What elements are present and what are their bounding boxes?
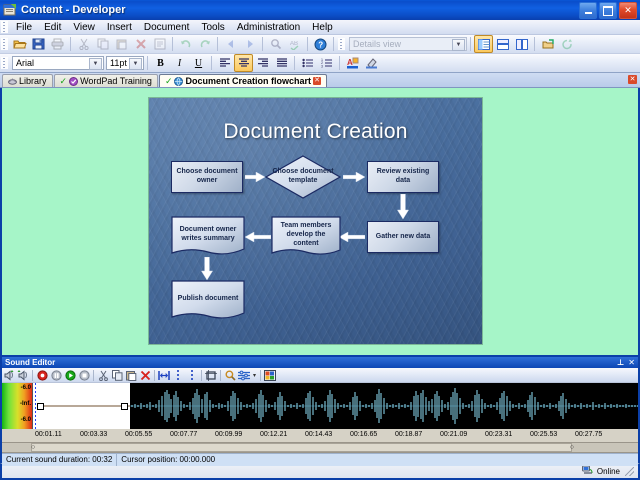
meter-label-top: -6.0	[21, 385, 31, 391]
copy-icon[interactable]	[93, 35, 112, 53]
tab-wordpad-training[interactable]: ✓ WordPad Training	[54, 74, 158, 87]
ruler-tick: 00:16.65	[350, 431, 377, 438]
node-label: Team members develop the content	[271, 222, 341, 248]
play-icon[interactable]	[63, 369, 77, 382]
flowchart-node-choose-document-template[interactable]: Choose document template	[265, 155, 341, 199]
silence-handle-left[interactable]	[37, 403, 44, 410]
ruler-tick: 00:14.43	[305, 431, 332, 438]
tab-label: WordPad Training	[80, 76, 152, 86]
format-toolbar: Arial ▼ 11pt ▼ B I U 123	[0, 54, 640, 73]
close-all-tabs-icon[interactable]: ✕	[628, 75, 637, 84]
playhead-marker[interactable]	[35, 383, 36, 429]
cut-icon[interactable]	[74, 35, 93, 53]
zoom-icon[interactable]	[223, 369, 237, 382]
sound-editor-close-icon[interactable]: ✕	[628, 358, 635, 367]
flowchart-title: Document Creation	[149, 120, 482, 144]
effects-icon[interactable]	[263, 369, 277, 382]
meter-label-bottom: -6.0	[21, 417, 31, 423]
font-color-icon[interactable]: A	[343, 54, 362, 72]
sound-editor-panel: Sound Editor ⊥ ✕	[0, 355, 640, 463]
italic-button[interactable]: I	[170, 54, 189, 72]
flowchart-arrow-3	[397, 194, 409, 220]
resize-grip[interactable]	[625, 467, 634, 476]
title-bar: Content - Developer ✕	[0, 0, 640, 20]
svg-text:3: 3	[321, 64, 323, 68]
menu-gripper[interactable]	[1, 21, 8, 33]
ruler-tick: 00:12.21	[260, 431, 287, 438]
dropdown-arrow-icon[interactable]: ▾	[251, 369, 258, 382]
toolbar-separator	[147, 56, 148, 70]
node-label: Publish document	[174, 295, 243, 304]
flowchart-node-document-owner-writes-summary[interactable]: Document owner writes summary	[171, 216, 245, 258]
tab-close-icon[interactable]: ✕	[313, 77, 321, 85]
ruler-tick: 00:05.55	[125, 431, 152, 438]
close-button[interactable]: ✕	[619, 2, 637, 19]
view-mode-select[interactable]: Details view ▼	[349, 37, 467, 51]
tab-library[interactable]: Library	[2, 74, 53, 87]
menu-file[interactable]: File	[10, 21, 38, 34]
record-icon[interactable]	[35, 369, 49, 382]
stop-icon[interactable]	[77, 369, 91, 382]
flowchart-arrow-5	[245, 232, 271, 242]
sound-duration-status: Current sound duration: 00:32	[2, 454, 117, 466]
globe-icon	[174, 77, 183, 86]
svg-text:AB: AB	[290, 41, 298, 47]
toolbar-separator	[93, 370, 94, 381]
ruler-tick: 00:23.31	[485, 431, 512, 438]
toolbar-separator	[307, 37, 308, 51]
waveform-silence-region[interactable]	[33, 383, 130, 429]
sound-editor-controls: ⊥ ✕	[617, 358, 635, 367]
scroll-marker-left[interactable]: ○	[31, 443, 35, 452]
cursor-position-status: Cursor position: 00:00.000	[117, 454, 638, 466]
align-justify-icon[interactable]	[272, 54, 291, 72]
work-area: Document Creation Choose document owner	[0, 88, 640, 355]
font-family-select[interactable]: Arial ▼	[12, 56, 104, 70]
toolbar-separator	[470, 37, 471, 51]
flowchart-arrow-6	[201, 257, 213, 281]
maximize-button[interactable]	[599, 2, 617, 19]
spellcheck-icon[interactable]: AB	[285, 35, 304, 53]
ruler-tick: 00:25.53	[530, 431, 557, 438]
svg-text:A: A	[347, 58, 353, 67]
menu-help[interactable]: Help	[306, 21, 339, 34]
forward-icon[interactable]	[240, 35, 259, 53]
font-family-value: Arial	[16, 58, 34, 68]
find-icon[interactable]	[266, 35, 285, 53]
flowchart-node-gather-new-data[interactable]: Gather new data	[367, 221, 439, 253]
meter-label-middle: -Inf.	[20, 401, 31, 407]
ruler-tick: 00:27.75	[575, 431, 602, 438]
back-icon[interactable]	[221, 35, 240, 53]
menu-insert[interactable]: Insert	[101, 21, 138, 34]
library-icon	[8, 77, 17, 86]
help-icon[interactable]: ?	[311, 35, 330, 53]
print-icon[interactable]	[48, 35, 67, 53]
save-icon[interactable]	[29, 35, 48, 53]
toolbar-separator	[220, 370, 221, 381]
scrollbar-thumb[interactable]	[31, 443, 572, 452]
svg-text:?: ?	[318, 40, 323, 49]
font-size-value: 11pt	[110, 58, 127, 68]
flowchart-node-publish-document[interactable]: Publish document	[171, 280, 245, 322]
node-label: Document owner writes summary	[171, 226, 245, 244]
ruler-tick: 00:01.11	[35, 431, 62, 438]
split-view-icon[interactable]	[512, 35, 531, 53]
network-icon	[582, 465, 594, 478]
node-label: Choose document template	[267, 168, 339, 186]
undo-icon[interactable]	[176, 35, 195, 53]
bold-button[interactable]: B	[151, 54, 170, 72]
document-tab-strip: Library ✓ WordPad Training ✓ Document Cr…	[0, 73, 640, 88]
menu-bar: File Edit View Insert Document Tools Adm…	[0, 20, 640, 35]
ruler-tick: 00:03.33	[80, 431, 107, 438]
refresh-icon[interactable]	[557, 35, 576, 53]
insert-sound-icon[interactable]	[2, 369, 16, 382]
underline-button[interactable]: U	[189, 54, 208, 72]
application-window: Content - Developer ✕ File Edit View Ins…	[0, 0, 640, 480]
silence-baseline	[37, 405, 130, 407]
flowchart-arrow-1	[245, 172, 265, 182]
flowchart-node-team-members-develop-content[interactable]: Team members develop the content	[271, 216, 341, 258]
toolbar-separator	[262, 37, 263, 51]
toolbar-separator	[154, 370, 155, 381]
node-label: Choose document owner	[174, 168, 240, 186]
numbered-list-icon[interactable]: 123	[317, 54, 336, 72]
toolbar-separator	[534, 37, 535, 51]
tab-label: Library	[19, 76, 47, 86]
scroll-marker-right[interactable]: ○	[570, 443, 574, 452]
sound-editor-title: Sound Editor	[5, 358, 55, 367]
toolbar-separator	[32, 370, 33, 381]
view-mode-value: Details view	[353, 39, 401, 49]
format-gripper[interactable]	[1, 57, 8, 69]
toolbar-separator	[294, 56, 295, 70]
align-right-icon[interactable]	[253, 54, 272, 72]
append-sound-icon[interactable]	[16, 369, 30, 382]
toolbar-separator	[217, 37, 218, 51]
delete-icon[interactable]	[131, 35, 150, 53]
marker-out-icon[interactable]	[185, 369, 199, 382]
toolbar-gripper[interactable]	[1, 38, 8, 50]
marker-in-icon[interactable]	[171, 369, 185, 382]
flowchart-arrow-2	[343, 172, 365, 182]
ruler-tick: 00:09.99	[215, 431, 242, 438]
properties-icon[interactable]	[150, 35, 169, 53]
toolbar-separator	[211, 56, 212, 70]
node-label: Review existing data	[370, 168, 436, 186]
font-size-select[interactable]: 11pt ▼	[106, 56, 144, 70]
toolbar-separator	[260, 370, 261, 381]
copy-icon[interactable]	[110, 369, 124, 382]
chevron-down-icon[interactable]: ▼	[129, 58, 142, 70]
menu-administration[interactable]: Administration	[231, 21, 306, 34]
app-icon	[3, 3, 17, 17]
pin-icon[interactable]: ⊥	[617, 358, 624, 367]
waveform-area[interactable]: -6.0 -Inf. -6.0	[2, 383, 638, 429]
flowchart-node-review-existing-data[interactable]: Review existing data	[367, 161, 439, 193]
bullet-list-icon[interactable]	[298, 54, 317, 72]
window-title: Content - Developer	[21, 4, 126, 16]
toolbar-separator	[201, 370, 202, 381]
waveform-scrollbar[interactable]: ○ ○	[2, 443, 638, 453]
flowchart-canvas[interactable]: Document Creation Choose document owner	[149, 98, 482, 344]
redo-icon[interactable]	[195, 35, 214, 53]
toolbar-gripper-2[interactable]	[338, 38, 345, 50]
node-label: Gather new data	[376, 233, 430, 242]
toolbar-separator	[333, 37, 334, 51]
delete-icon[interactable]	[138, 369, 152, 382]
window-controls: ✕	[579, 2, 637, 19]
open-folder-icon[interactable]	[10, 35, 29, 53]
check-icon: ✓	[165, 77, 173, 86]
chevron-down-icon[interactable]: ▼	[452, 39, 465, 51]
highlight-icon[interactable]	[362, 54, 381, 72]
pause-icon[interactable]	[49, 369, 63, 382]
crop-icon[interactable]	[204, 369, 218, 382]
flowchart-arrow-4	[339, 232, 365, 242]
sound-editor-title-bar: Sound Editor ⊥ ✕	[2, 357, 638, 368]
sound-editor-toolbar: ▾	[2, 368, 638, 383]
toolbar-separator	[70, 37, 71, 51]
standard-toolbar: AB ? Details view ▼	[0, 35, 640, 54]
paste-icon[interactable]	[112, 35, 131, 53]
ruler-tick: 00:07.77	[170, 431, 197, 438]
menu-tools[interactable]: Tools	[195, 21, 230, 34]
menu-document[interactable]: Document	[138, 21, 196, 34]
tab-document-creation-flowchart[interactable]: ✓ Document Creation flowchart ✕	[159, 74, 327, 87]
menu-edit[interactable]: Edit	[38, 21, 67, 34]
cut-icon[interactable]	[96, 369, 110, 382]
silence-handle-right[interactable]	[121, 403, 128, 410]
check-icon: ✓	[60, 77, 68, 86]
list-view-icon[interactable]	[493, 35, 512, 53]
ruler-tick: 00:21.09	[440, 431, 467, 438]
align-left-icon[interactable]	[215, 54, 234, 72]
toolbar-separator	[339, 56, 340, 70]
waveform-display[interactable]	[33, 383, 638, 429]
ruler-tick: 00:18.87	[395, 431, 422, 438]
align-center-icon[interactable]	[234, 54, 253, 72]
open-external-icon[interactable]	[538, 35, 557, 53]
paste-icon[interactable]	[124, 369, 138, 382]
level-meter: -6.0 -Inf. -6.0	[2, 383, 33, 429]
tab-label: Document Creation flowchart	[185, 76, 311, 86]
sound-editor-status-bar: Current sound duration: 00:32 Cursor pos…	[2, 453, 638, 466]
time-ruler[interactable]: 00:01.11 00:03.33 00:05.55 00:07.77 00:0…	[2, 429, 638, 443]
details-view-icon[interactable]	[474, 35, 493, 53]
chevron-down-icon[interactable]: ▼	[89, 58, 102, 70]
menu-view[interactable]: View	[67, 21, 101, 34]
online-status-label: Online	[597, 467, 620, 476]
minimize-button[interactable]	[579, 2, 597, 19]
flowchart-node-choose-document-owner[interactable]: Choose document owner	[171, 161, 243, 193]
levels-icon[interactable]	[237, 369, 251, 382]
toolbar-separator	[172, 37, 173, 51]
course-icon	[69, 77, 78, 86]
select-all-icon[interactable]	[157, 369, 171, 382]
waveform-svg	[130, 383, 638, 429]
